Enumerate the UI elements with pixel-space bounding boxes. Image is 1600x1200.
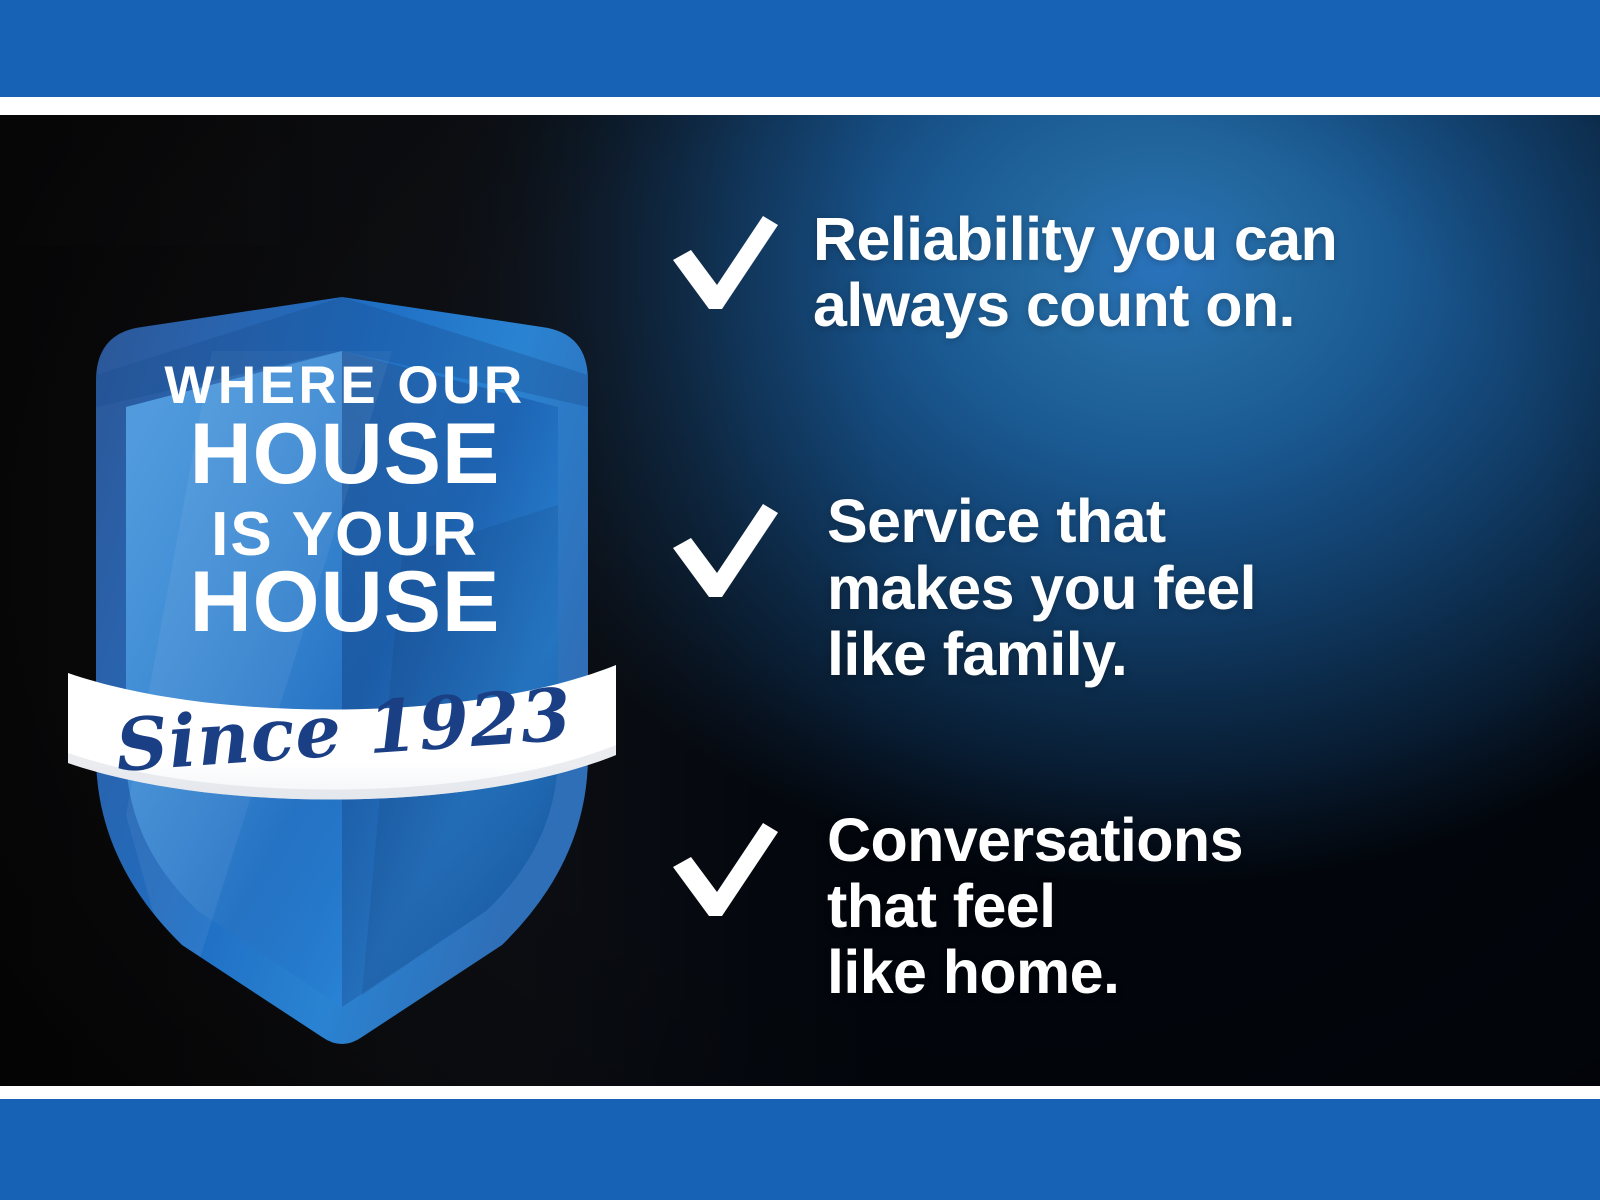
benefit-item-3: Conversations that feel like home. xyxy=(665,807,1565,1006)
checkmark-icon xyxy=(665,807,795,919)
benefit-item-2: Service that makes you feel like family. xyxy=(665,488,1565,687)
shield-badge: WHERE OUR HOUSE IS YOUR HOUSE Since 1923 xyxy=(62,255,622,1065)
badge-line-4: HOUSE xyxy=(190,554,501,650)
checkmark-icon xyxy=(665,206,795,312)
promo-poster: WHERE OUR HOUSE IS YOUR HOUSE Since 1923 xyxy=(0,0,1600,1200)
benefit-text-2: Service that makes you feel like family. xyxy=(827,488,1256,687)
badge-line-2: HOUSE xyxy=(190,406,501,502)
benefit-text-1: Reliability you can always count on. xyxy=(813,206,1337,338)
benefit-item-1: Reliability you can always count on. xyxy=(665,206,1565,338)
benefit-text-3: Conversations that feel like home. xyxy=(827,807,1243,1006)
checkmark-icon xyxy=(665,488,795,600)
background-grain-texture xyxy=(0,115,280,245)
badge-tagline: WHERE OUR HOUSE IS YOUR HOUSE xyxy=(164,356,525,650)
benefits-list: Reliability you can always count on. Ser… xyxy=(665,180,1565,1005)
bottom-brand-bar xyxy=(0,1099,1600,1200)
top-brand-bar xyxy=(0,0,1600,97)
